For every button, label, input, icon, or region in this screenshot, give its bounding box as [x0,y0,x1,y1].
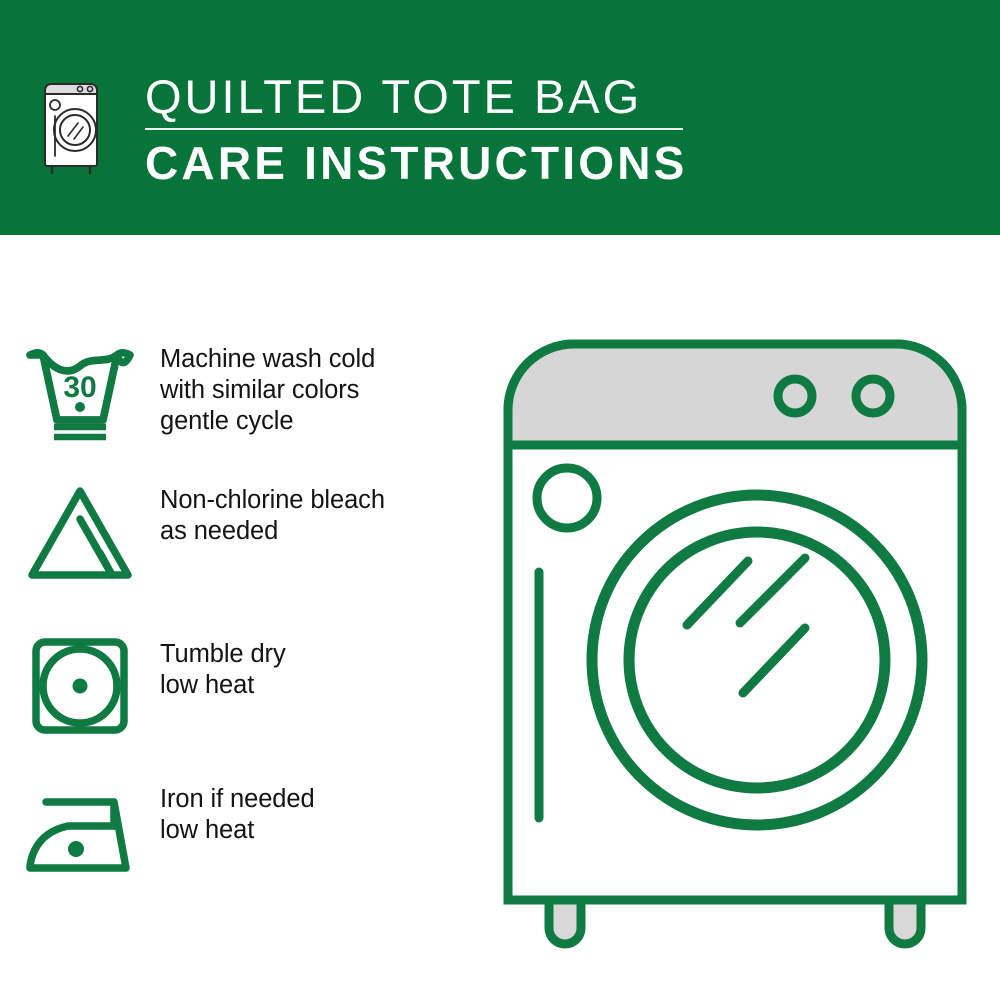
iron-low-heat-icon [0,782,160,882]
care-line: Iron if needed [160,784,470,815]
tumble-dry-low-icon [0,637,160,737]
title-divider [145,128,683,130]
washing-machine-illustration [495,330,975,940]
care-text-bleach: Non-chlorine bleach as needed [160,483,470,547]
care-row: Tumble dry low heat [0,637,470,737]
bleach-triangle-icon [0,483,160,583]
leg-left [549,900,581,944]
care-line: Non-chlorine bleach [160,485,470,516]
care-line: low heat [160,670,470,701]
care-row: 30 Machine wash cold with similar colors… [0,342,470,442]
care-line: low heat [160,815,470,846]
header-band: QUILTED TOTE BAG CARE INSTRUCTIONS [0,0,1000,235]
care-text-iron: Iron if needed low heat [160,782,470,846]
care-row: Iron if needed low heat [0,782,470,882]
header-title-block: QUILTED TOTE BAG CARE INSTRUCTIONS [145,70,745,190]
wash-tub-30-icon: 30 [0,342,160,442]
page-title: QUILTED TOTE BAG [145,70,745,124]
leg-right [889,900,921,944]
wash-temperature-label: 30 [63,371,96,404]
care-row: Non-chlorine bleach as needed [0,483,470,583]
care-line: with similar colors [160,375,470,406]
care-text-machine-wash: Machine wash cold with similar colors ge… [160,342,470,437]
care-text-tumble-dry: Tumble dry low heat [160,637,470,701]
care-line: Machine wash cold [160,344,470,375]
washing-machine-icon [42,68,104,176]
care-line: as needed [160,516,470,547]
care-line: Tumble dry [160,639,470,670]
care-line: gentle cycle [160,406,470,437]
page-subtitle: CARE INSTRUCTIONS [145,136,745,190]
care-instructions-poster: QUILTED TOTE BAG CARE INSTRUCTIONS [0,0,1000,1000]
care-instruction-list: 30 Machine wash cold with similar colors… [0,235,490,1000]
